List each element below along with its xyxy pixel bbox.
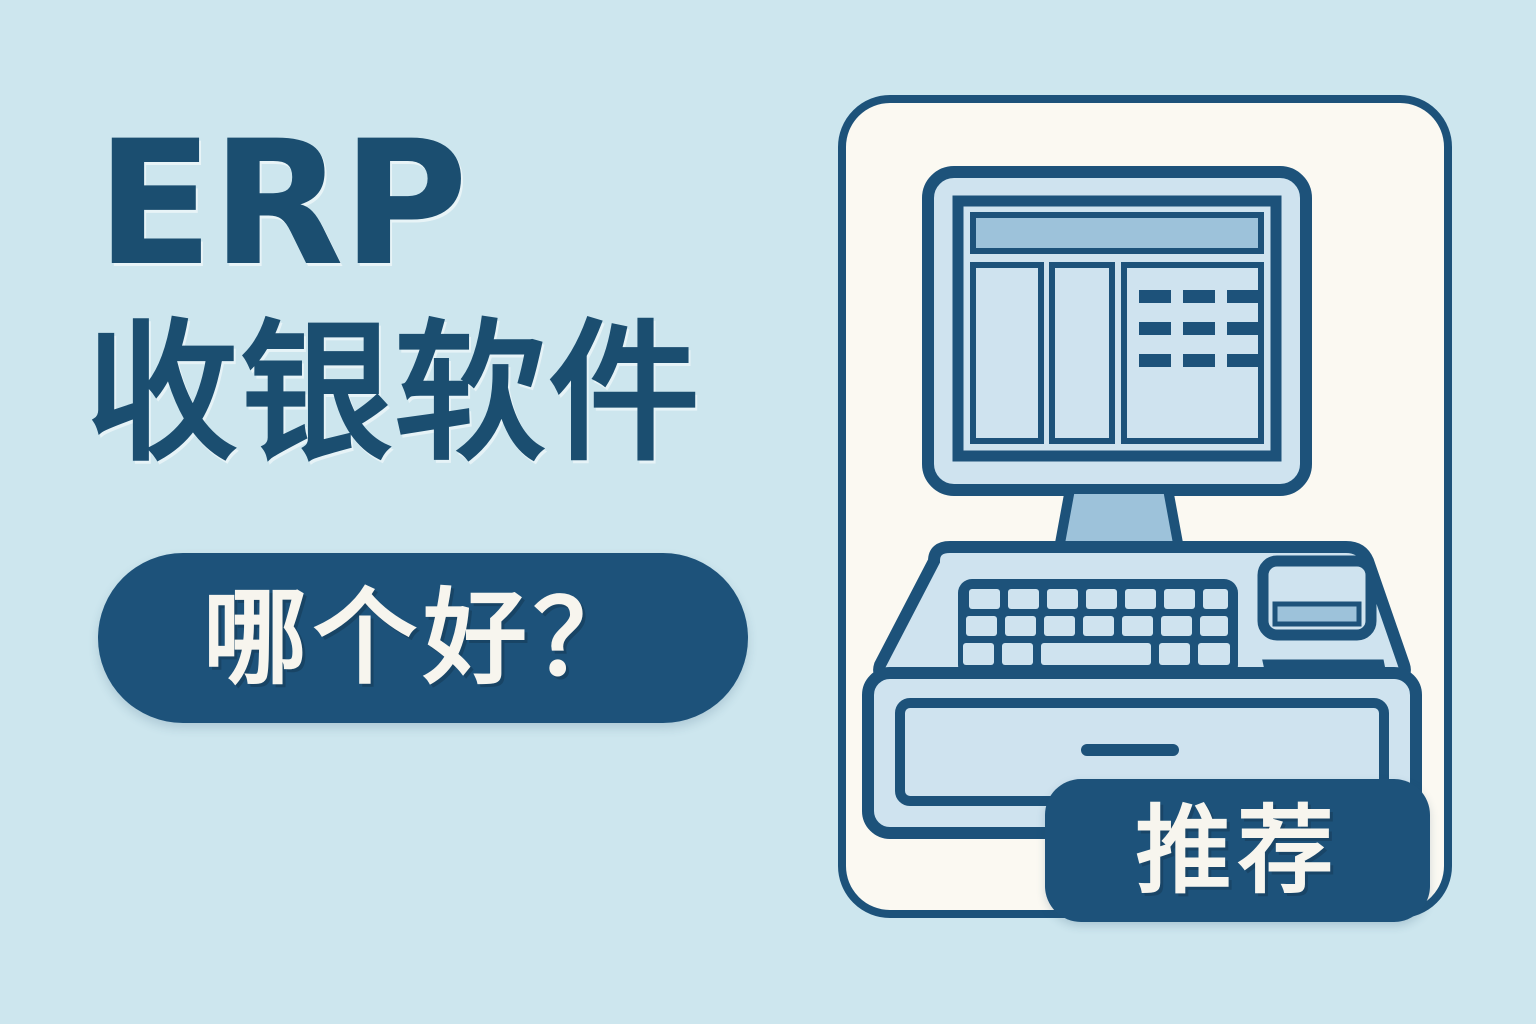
- recommend-badge[interactable]: 推荐: [1045, 779, 1430, 922]
- poster-canvas: ERP 收银软件 哪个好？: [0, 0, 1536, 1024]
- question-badge-label: 哪个好？: [203, 586, 643, 690]
- headline-block: ERP 收银软件 哪个好？: [0, 0, 820, 1024]
- question-badge[interactable]: 哪个好？: [98, 553, 748, 723]
- headline-line-erp: ERP: [96, 118, 466, 290]
- headline-line-chinese: 收银软件: [86, 318, 702, 470]
- recommend-badge-label: 推荐: [1136, 803, 1340, 899]
